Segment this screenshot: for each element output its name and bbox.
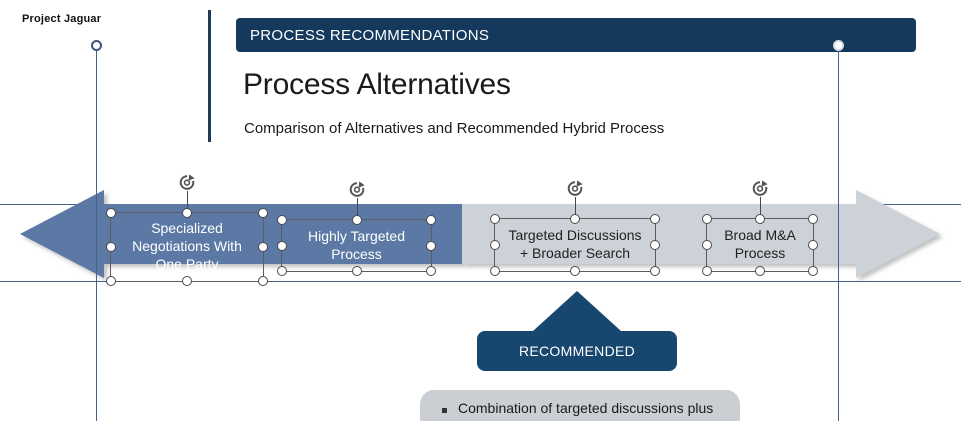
page-title: Process Alternatives: [243, 68, 511, 102]
resize-handle-bottom-left[interactable]: [277, 266, 287, 276]
resize-handle-top-right[interactable]: [258, 208, 268, 218]
process-box-label: Highly Targeted Process: [308, 228, 405, 264]
resize-handle-top-left[interactable]: [277, 215, 287, 225]
eyebrow-label: PROCESS RECOMMENDATIONS: [236, 27, 489, 44]
resize-handle-top-right[interactable]: [426, 215, 436, 225]
resize-handle-top-middle[interactable]: [352, 215, 362, 225]
vertical-guide-left: [96, 46, 97, 421]
eyebrow-banner: PROCESS RECOMMENDATIONS: [236, 18, 916, 52]
resize-handle-bottom-middle[interactable]: [755, 266, 765, 276]
process-box-label: Broad M&A Process: [724, 227, 796, 263]
resize-handle-middle-left[interactable]: [490, 240, 500, 250]
guide-handle-right[interactable]: [833, 40, 844, 51]
recommendation-bullet-text: Combination of targeted discussions plus: [458, 400, 713, 416]
resize-handle-bottom-left[interactable]: [702, 266, 712, 276]
resize-handle-top-right[interactable]: [808, 214, 818, 224]
bullet-marker-icon: [442, 408, 447, 413]
rotate-handle-icon[interactable]: [177, 173, 197, 193]
resize-handle-bottom-right[interactable]: [808, 266, 818, 276]
resize-handle-middle-right[interactable]: [426, 241, 436, 251]
resize-handle-bottom-left[interactable]: [106, 276, 116, 286]
resize-handle-bottom-right[interactable]: [650, 266, 660, 276]
process-box-targeted-discussions[interactable]: Targeted Discussions + Broader Search: [494, 218, 656, 272]
recommended-arrow-shape: [471, 287, 683, 373]
resize-handle-top-right[interactable]: [650, 214, 660, 224]
vertical-guide-right: [838, 46, 839, 421]
resize-handle-middle-right[interactable]: [808, 240, 818, 250]
resize-handle-bottom-right[interactable]: [258, 276, 268, 286]
resize-handle-bottom-middle[interactable]: [352, 266, 362, 276]
resize-handle-top-left[interactable]: [106, 208, 116, 218]
guide-handle-left[interactable]: [91, 40, 102, 51]
resize-handle-bottom-middle[interactable]: [570, 266, 580, 276]
resize-handle-top-middle[interactable]: [182, 208, 192, 218]
recommendation-detail-panel: Combination of targeted discussions plus: [420, 390, 740, 421]
resize-handle-bottom-right[interactable]: [426, 266, 436, 276]
rotate-handle-icon[interactable]: [750, 179, 770, 199]
resize-handle-top-left[interactable]: [702, 214, 712, 224]
page-subtitle: Comparison of Alternatives and Recommend…: [244, 120, 664, 137]
resize-handle-middle-left[interactable]: [277, 241, 287, 251]
resize-handle-middle-right[interactable]: [650, 240, 660, 250]
resize-handle-bottom-left[interactable]: [490, 266, 500, 276]
process-box-specialized-negotiations[interactable]: Specialized Negotiations With One Party: [110, 212, 264, 282]
process-box-label: Targeted Discussions + Broader Search: [508, 227, 641, 263]
resize-handle-bottom-middle[interactable]: [182, 276, 192, 286]
resize-handle-middle-left[interactable]: [702, 240, 712, 250]
process-box-broad-ma[interactable]: Broad M&A Process: [706, 218, 814, 272]
rotate-handle-icon[interactable]: [565, 179, 585, 199]
powerpoint-slide-canvas: Project Jaguar PROCESS RECOMMENDATIONS P…: [0, 0, 961, 421]
resize-handle-top-middle[interactable]: [755, 214, 765, 224]
recommended-callout[interactable]: RECOMMENDED: [471, 287, 683, 373]
process-box-highly-targeted[interactable]: Highly Targeted Process: [281, 219, 432, 272]
rotate-handle-icon[interactable]: [347, 180, 367, 200]
resize-handle-middle-left[interactable]: [106, 242, 116, 252]
process-box-label: Specialized Negotiations With One Party: [132, 220, 242, 274]
header-accent-bar: [208, 10, 211, 142]
resize-handle-top-left[interactable]: [490, 214, 500, 224]
project-label: Project Jaguar: [22, 13, 101, 25]
resize-handle-middle-right[interactable]: [258, 242, 268, 252]
resize-handle-top-middle[interactable]: [570, 214, 580, 224]
